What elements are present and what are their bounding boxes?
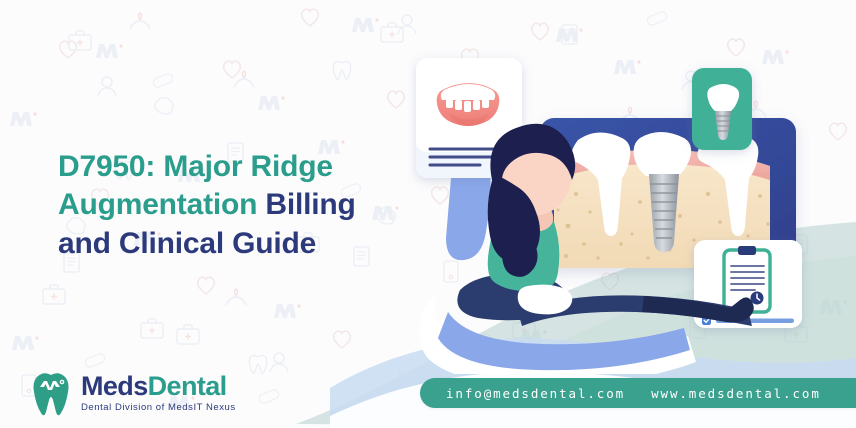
banner: D7950: Major Ridge Augmentation Billing … [0, 0, 856, 428]
title-line-1: D7950: Major Ridge [58, 150, 333, 183]
contact-website[interactable]: www.medsdental.com [651, 386, 821, 401]
brand-logo[interactable]: MedsDental Dental Division of MedsIT Nex… [28, 370, 236, 416]
logo-word-meds: Meds [81, 371, 148, 401]
title-line-2-navy: Billing [265, 188, 355, 221]
tooth-m-icon [28, 370, 74, 416]
logo-wordmark: MedsDental [81, 373, 236, 400]
implant-badge [692, 68, 752, 150]
logo-tagline: Dental Division of MedsIT Nexus [81, 403, 236, 413]
page-title: D7950: Major Ridge Augmentation Billing … [58, 148, 458, 263]
hero-illustration [408, 44, 856, 374]
title-line-2-teal: Augmentation [58, 188, 265, 221]
contact-bar: info@medsdental.com www.medsdental.com [420, 378, 856, 408]
contact-email[interactable]: info@medsdental.com [446, 386, 625, 401]
title-line-3: and Clinical Guide [58, 227, 316, 260]
logo-text: MedsDental Dental Division of MedsIT Nex… [81, 373, 236, 413]
logo-word-dental: Dental [148, 371, 227, 401]
